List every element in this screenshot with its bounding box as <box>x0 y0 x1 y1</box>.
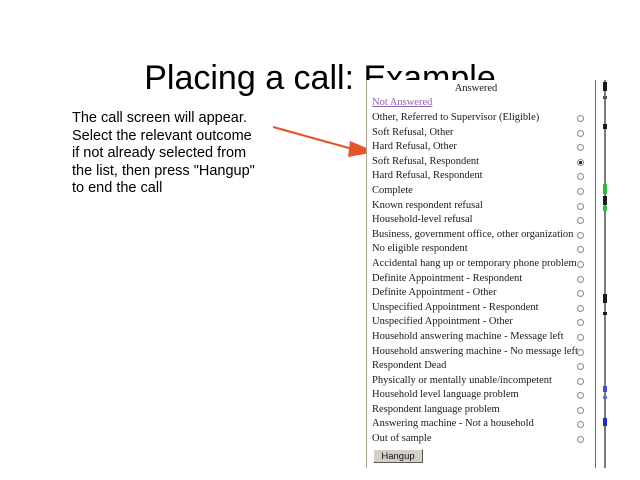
outcome-row[interactable]: Other, Referred to Supervisor (Eligible) <box>367 111 596 126</box>
sliver-mark <box>603 312 607 315</box>
outcome-radio-button[interactable] <box>577 392 584 399</box>
outcome-radio-button[interactable] <box>577 144 584 151</box>
outcome-label: Hard Refusal, Other <box>372 140 457 155</box>
outcome-label: Known respondent refusal <box>372 199 483 214</box>
outcome-radio-button[interactable] <box>577 203 584 210</box>
outcome-radio-button[interactable] <box>577 232 584 239</box>
sliver-mark <box>603 396 607 399</box>
sliver-mark <box>603 196 607 205</box>
outcome-row[interactable]: Unspecified Appointment - Other <box>367 315 596 330</box>
sliver-mark <box>603 124 607 129</box>
outcome-label: Definite Appointment - Respondent <box>372 272 522 287</box>
outcome-row[interactable]: Soft Refusal, Other <box>367 126 596 141</box>
outcome-list: Other, Referred to Supervisor (Eligible)… <box>367 111 596 447</box>
outcome-radio-button[interactable] <box>577 173 584 180</box>
outcome-label: Other, Referred to Supervisor (Eligible) <box>372 111 539 126</box>
outcome-row[interactable]: Business, government office, other organ… <box>367 228 596 243</box>
outcome-label: Soft Refusal, Other <box>372 126 453 141</box>
outcome-radio-button[interactable] <box>577 159 584 166</box>
outcome-label: Answering machine - Not a household <box>372 417 534 432</box>
outcome-row[interactable]: Soft Refusal, Respondent <box>367 155 596 170</box>
outcome-radio-button[interactable] <box>577 188 584 195</box>
outcome-label: Physically or mentally unable/incompeten… <box>372 374 552 389</box>
outcome-radio-button[interactable] <box>577 319 584 326</box>
outcome-label: No eligible respondent <box>372 242 468 257</box>
answered-header: Answered <box>367 83 585 94</box>
hangup-button[interactable]: Hangup <box>373 449 423 463</box>
outcome-row[interactable]: Accidental hang up or temporary phone pr… <box>367 257 596 272</box>
outcome-row[interactable]: Respondent language problem <box>367 403 596 418</box>
outcome-row[interactable]: Household answering machine - No message… <box>367 345 596 360</box>
sliver-mark <box>603 206 607 211</box>
outcome-row[interactable]: Out of sample <box>367 432 596 447</box>
outcome-label: Respondent Dead <box>372 359 446 374</box>
outcome-radio-button[interactable] <box>577 305 584 312</box>
outcome-radio-button[interactable] <box>577 349 584 356</box>
sliver-mark <box>603 294 607 303</box>
outcome-row[interactable]: Complete <box>367 184 596 199</box>
outcome-row[interactable]: Household-level refusal <box>367 213 596 228</box>
not-answered-link[interactable]: Not Answered <box>372 97 432 108</box>
outcome-row[interactable]: Known respondent refusal <box>367 199 596 214</box>
instruction-line: to end the call <box>72 180 287 198</box>
sliver-mark <box>603 96 607 99</box>
outcome-radio-button[interactable] <box>577 261 584 268</box>
instruction-line: the list, then press "Hangup" <box>72 163 287 181</box>
outcome-row[interactable]: Hard Refusal, Respondent <box>367 169 596 184</box>
outcome-row[interactable]: Definite Appointment - Respondent <box>367 272 596 287</box>
outcome-row[interactable]: Respondent Dead <box>367 359 596 374</box>
outcome-label: Household answering machine - Message le… <box>372 330 564 345</box>
adjacent-window-sliver <box>600 80 640 468</box>
instruction-line: if not already selected from <box>72 145 287 163</box>
outcome-label: Household-level refusal <box>372 213 473 228</box>
outcome-row[interactable]: Hard Refusal, Other <box>367 140 596 155</box>
outcome-label: Accidental hang up or temporary phone pr… <box>372 257 577 272</box>
outcome-row[interactable]: Definite Appointment - Other <box>367 286 596 301</box>
instruction-text: The call screen will appear. Select the … <box>72 110 287 198</box>
outcome-label: Respondent language problem <box>372 403 500 418</box>
outcome-radio-button[interactable] <box>577 436 584 443</box>
outcome-radio-button[interactable] <box>577 407 584 414</box>
outcome-row[interactable]: Answering machine - Not a household <box>367 417 596 432</box>
outcome-radio-button[interactable] <box>577 290 584 297</box>
outcome-radio-button[interactable] <box>577 378 584 385</box>
outcome-label: Household level language problem <box>372 388 519 403</box>
outcome-label: Out of sample <box>372 432 432 447</box>
outcome-radio-button[interactable] <box>577 217 584 224</box>
instruction-line: Select the relevant outcome <box>72 128 287 146</box>
outcome-radio-button[interactable] <box>577 363 584 370</box>
sliver-mark <box>603 386 607 392</box>
instruction-line: The call screen will appear. <box>72 110 287 128</box>
sliver-mark <box>603 184 607 194</box>
sliver-mark <box>603 418 607 426</box>
outcome-label: Hard Refusal, Respondent <box>372 169 483 184</box>
outcome-radio-button[interactable] <box>577 246 584 253</box>
outcome-row[interactable]: Unspecified Appointment - Respondent <box>367 301 596 316</box>
outcome-radio-button[interactable] <box>577 115 584 122</box>
outcome-label: Household answering machine - No message… <box>372 345 578 360</box>
outcome-radio-button[interactable] <box>577 421 584 428</box>
arrow-right-icon <box>272 122 378 166</box>
outcome-label: Definite Appointment - Other <box>372 286 497 301</box>
vertical-rule <box>604 80 606 468</box>
call-screen-panel: Answered Not Answered Other, Referred to… <box>366 80 596 468</box>
outcome-row[interactable]: Physically or mentally unable/incompeten… <box>367 374 596 389</box>
outcome-radio-button[interactable] <box>577 334 584 341</box>
outcome-label: Unspecified Appointment - Other <box>372 315 513 330</box>
outcome-label: Soft Refusal, Respondent <box>372 155 479 170</box>
outcome-label: Complete <box>372 184 413 199</box>
outcome-radio-button[interactable] <box>577 130 584 137</box>
outcome-label: Unspecified Appointment - Respondent <box>372 301 539 316</box>
sliver-mark <box>603 82 607 91</box>
outcome-label: Business, government office, other organ… <box>372 228 573 243</box>
outcome-row[interactable]: Household level language problem <box>367 388 596 403</box>
outcome-row[interactable]: No eligible respondent <box>367 242 596 257</box>
outcome-radio-button[interactable] <box>577 276 584 283</box>
outcome-row[interactable]: Household answering machine - Message le… <box>367 330 596 345</box>
